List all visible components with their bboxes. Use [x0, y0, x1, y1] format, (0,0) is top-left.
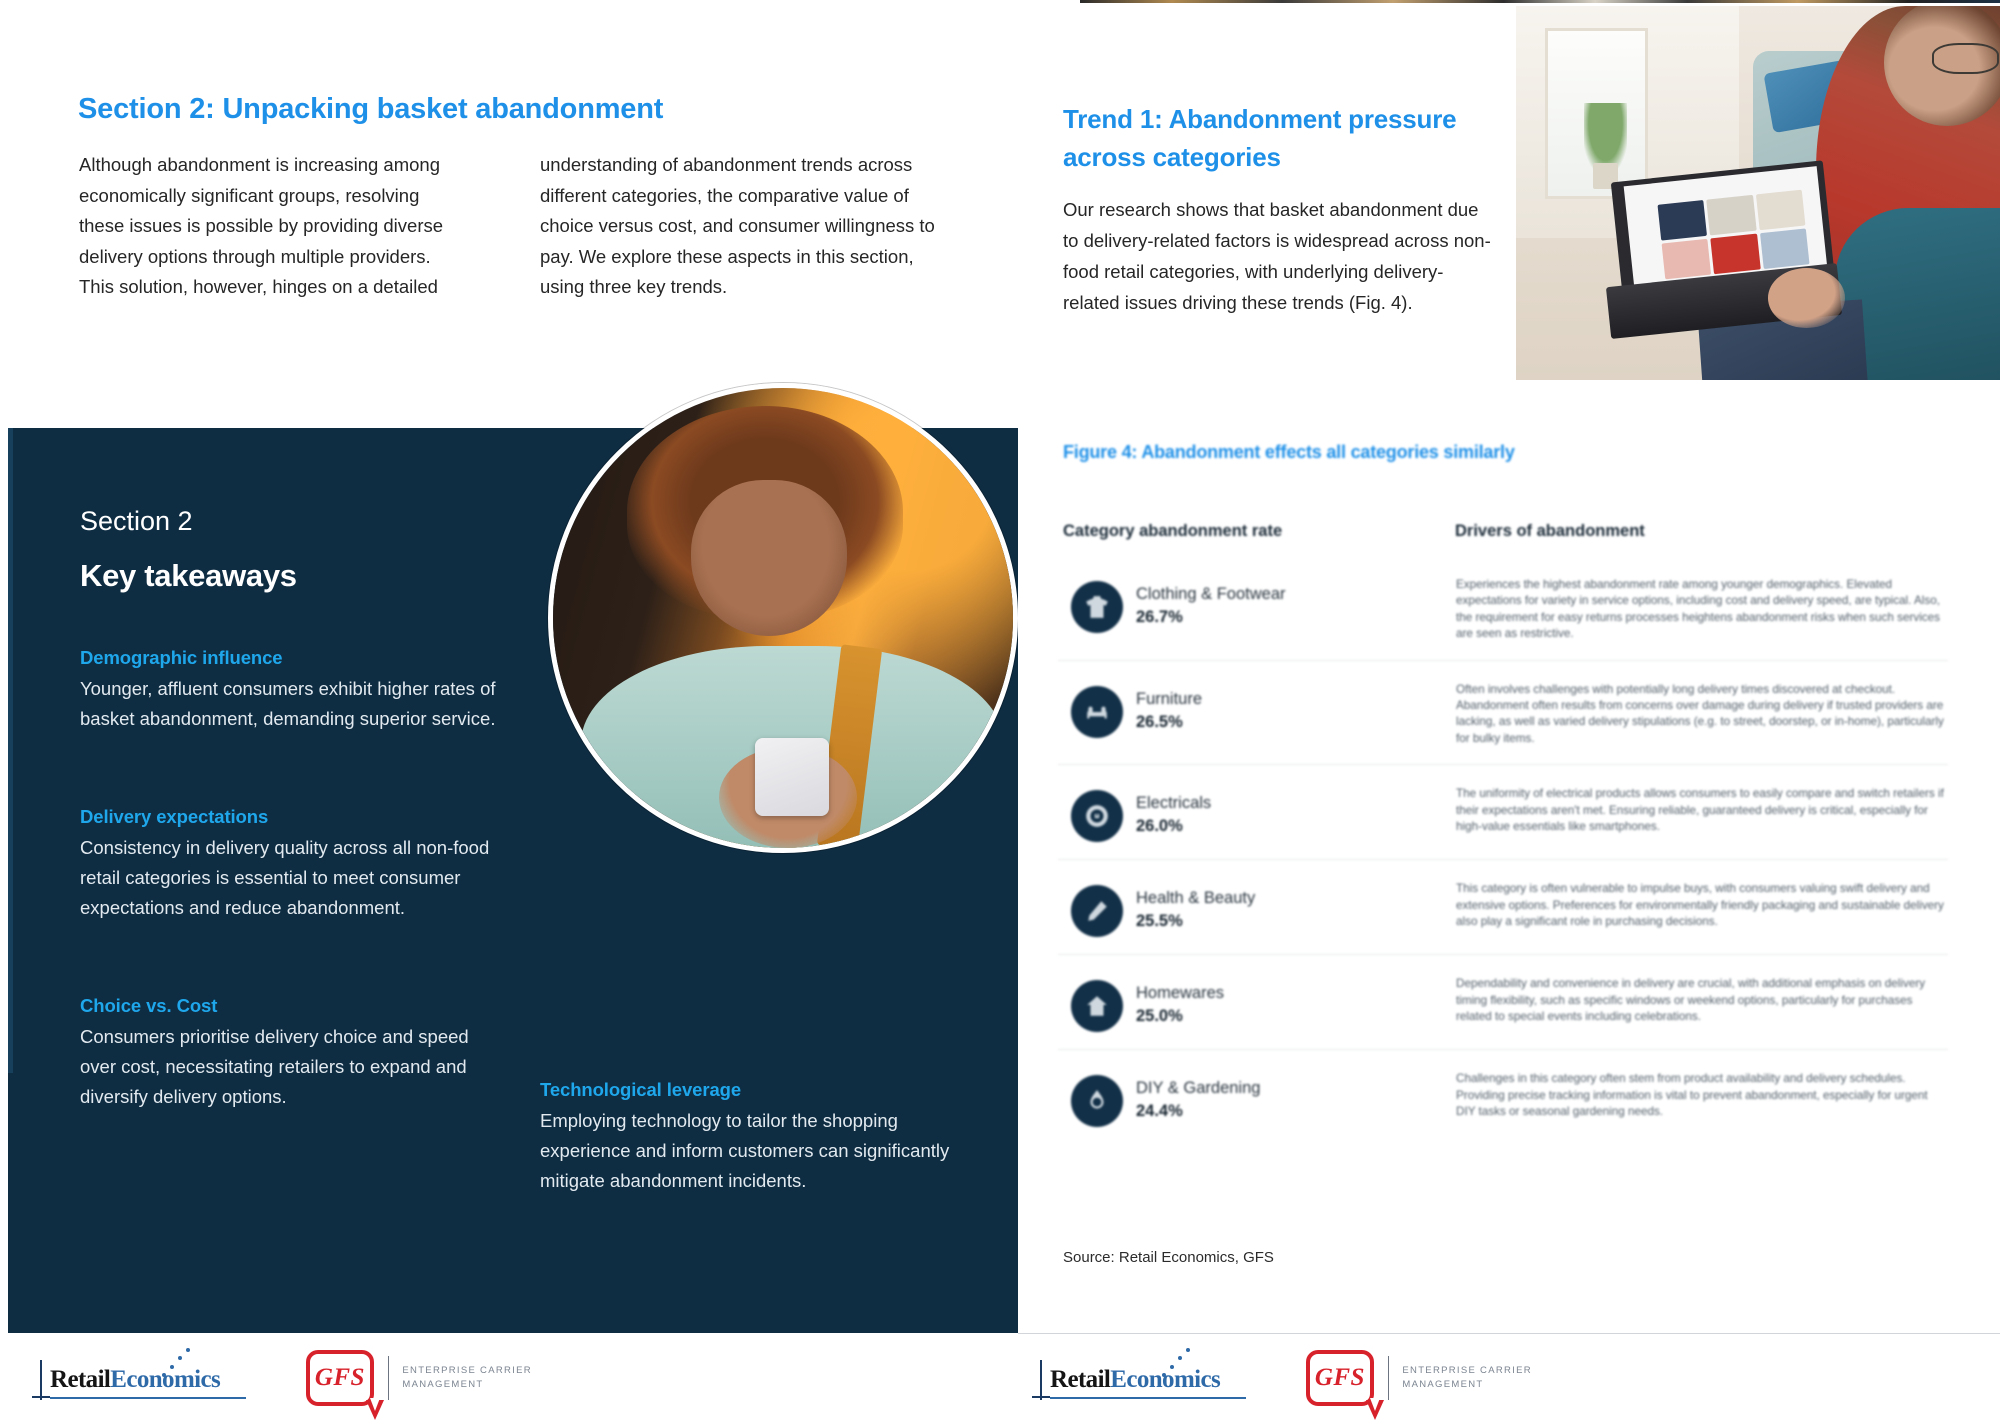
- gfs-mark: GFS: [315, 1364, 365, 1392]
- logo-wordmark: RetailEconomics: [50, 1366, 220, 1394]
- logo-underline: [50, 1397, 246, 1399]
- category-cell: Homewares 25.0%: [1136, 972, 1456, 1028]
- table-row: Furniture 26.5% Often involves challenge…: [1058, 661, 1948, 766]
- takeaway-body: Consistency in delivery quality across a…: [80, 833, 505, 923]
- plug-icon: [1058, 782, 1136, 842]
- takeaway-body: Employing technology to tailor the shopp…: [540, 1106, 970, 1196]
- takeaway-technological-leverage: Technological leverage Employing technol…: [540, 1077, 970, 1196]
- figure-source: Source: Retail Economics, GFS: [1063, 1249, 1274, 1266]
- category-cell: Clothing & Footwear 26.7%: [1136, 573, 1456, 629]
- gfs-divider: [1388, 1356, 1389, 1400]
- logo-tick: [1032, 1396, 1050, 1398]
- photo-online-store-grid: [1658, 189, 1810, 279]
- page-title: Section 2: Unpacking basket abandonment: [78, 91, 838, 127]
- category-rate: 25.5%: [1136, 909, 1456, 933]
- photo-hand: [1768, 268, 1845, 328]
- sofa-icon: [1058, 678, 1136, 738]
- footer-right: RetailEconomics GFS ENTERPRISE CARRIER M…: [1040, 1348, 1536, 1408]
- panel-eyebrow: Section 2: [80, 505, 193, 537]
- category-cell: Electricals 26.0%: [1136, 782, 1456, 838]
- woman-with-laptop-photo: [1516, 6, 2000, 380]
- figure-title: Figure 4: Abandonment effects all catego…: [1063, 440, 1843, 464]
- category-name: Clothing & Footwear: [1136, 583, 1456, 605]
- figure-column-header-category: Category abandonment rate: [1063, 522, 1282, 541]
- gfs-speech-bubble: GFS: [306, 1350, 374, 1406]
- logo-word-retail: Retail: [50, 1366, 110, 1393]
- gfs-bubble-tail: [366, 1400, 384, 1420]
- tshirt-icon: [1058, 573, 1136, 633]
- driver-cell: Challenges in this category often stem f…: [1456, 1067, 1948, 1120]
- trend-paragraph: Our research shows that basket abandonme…: [1063, 194, 1493, 318]
- report-spread: Section 2: Unpacking basket abandonment …: [0, 0, 2000, 1415]
- retail-economics-logo: RetailEconomics: [1040, 1352, 1250, 1404]
- logo-word-retail: Retail: [1050, 1366, 1110, 1393]
- logo-wordmark: RetailEconomics: [1050, 1366, 1220, 1394]
- driver-cell: Dependability and convenience in deliver…: [1456, 972, 1948, 1025]
- category-rate: 25.0%: [1136, 1004, 1456, 1028]
- gfs-tagline: ENTERPRISE CARRIER MANAGEMENT: [1402, 1364, 1536, 1392]
- footer-divider: [1018, 1333, 2000, 1334]
- footer-left: RetailEconomics GFS ENTERPRISE CARRIER M…: [40, 1348, 536, 1408]
- logo-tick: [32, 1396, 50, 1398]
- takeaway-heading: Choice vs. Cost: [80, 993, 505, 1019]
- category-name: DIY & Gardening: [1136, 1077, 1456, 1099]
- retail-economics-logo: RetailEconomics: [40, 1352, 250, 1404]
- category-rate: 26.5%: [1136, 710, 1456, 734]
- gfs-divider: [388, 1356, 389, 1400]
- table-row: Electricals 26.0% The uniformity of elec…: [1058, 765, 1948, 860]
- takeaway-body: Younger, affluent consumers exhibit high…: [80, 674, 505, 734]
- body-column-2: understanding of abandonment trends acro…: [540, 150, 960, 303]
- driver-cell: This category is often vulnerable to imp…: [1456, 877, 1948, 930]
- takeaway-delivery-expectations: Delivery expectations Consistency in del…: [80, 804, 505, 923]
- panel-accent-stripe: [8, 428, 13, 1073]
- driver-cell: Experiences the highest abandonment rate…: [1456, 573, 1948, 643]
- takeaway-body: Consumers prioritise delivery choice and…: [80, 1022, 505, 1112]
- category-name: Electricals: [1136, 792, 1456, 814]
- driver-cell: The uniformity of electrical products al…: [1456, 782, 1948, 835]
- category-cell: Health & Beauty 25.5%: [1136, 877, 1456, 933]
- category-cell: Furniture 26.5%: [1136, 678, 1456, 734]
- takeaway-choice-vs-cost: Choice vs. Cost Consumers prioritise del…: [80, 993, 505, 1112]
- table-row: Homewares 25.0% Dependability and conven…: [1058, 955, 1948, 1050]
- figure-table: Clothing & Footwear 26.7% Experiences th…: [1058, 556, 1948, 1144]
- logo-word-economics: Economics: [1110, 1366, 1220, 1393]
- photo-glasses: [1932, 43, 1999, 73]
- takeaway-heading: Delivery expectations: [80, 804, 505, 830]
- takeaway-demographic-influence: Demographic influence Younger, affluent …: [80, 645, 505, 734]
- gfs-mark: GFS: [1315, 1364, 1365, 1392]
- photo-face: [691, 480, 847, 636]
- table-row: DIY & Gardening 24.4% Challenges in this…: [1058, 1050, 1948, 1144]
- takeaway-heading: Technological leverage: [540, 1077, 970, 1103]
- body-column-1: Although abandonment is increasing among…: [79, 150, 469, 303]
- gfs-bubble-tail: [1366, 1400, 1384, 1420]
- gfs-tagline: ENTERPRISE CARRIER MANAGEMENT: [402, 1364, 536, 1392]
- table-row: Health & Beauty 25.5% This category is o…: [1058, 860, 1948, 955]
- figure-column-header-drivers: Drivers of abandonment: [1455, 522, 1645, 541]
- gfs-logo: GFS ENTERPRISE CARRIER MANAGEMENT: [306, 1350, 536, 1406]
- category-rate: 24.4%: [1136, 1099, 1456, 1123]
- gfs-logo: GFS ENTERPRISE CARRIER MANAGEMENT: [1306, 1350, 1536, 1406]
- watering-can-icon: [1058, 1067, 1136, 1127]
- top-edge-strip: [1080, 0, 2000, 3]
- category-rate: 26.7%: [1136, 605, 1456, 629]
- logo-bar: [40, 1360, 42, 1400]
- category-name: Furniture: [1136, 688, 1456, 710]
- logo-bar: [1040, 1360, 1042, 1400]
- gfs-speech-bubble: GFS: [1306, 1350, 1374, 1406]
- home-icon: [1058, 972, 1136, 1032]
- category-name: Health & Beauty: [1136, 887, 1456, 909]
- photo-plant: [1584, 103, 1628, 170]
- trend-title: Trend 1: Abandonment pressure across cat…: [1063, 100, 1463, 176]
- category-name: Homewares: [1136, 982, 1456, 1004]
- category-cell: DIY & Gardening 24.4%: [1136, 1067, 1456, 1123]
- logo-underline: [1050, 1397, 1246, 1399]
- table-row: Clothing & Footwear 26.7% Experiences th…: [1058, 556, 1948, 661]
- driver-cell: Often involves challenges with potential…: [1456, 678, 1948, 748]
- logo-word-economics: Economics: [110, 1366, 220, 1393]
- page-divider: [1018, 0, 1020, 1333]
- smiling-woman-photo: [548, 383, 1018, 853]
- category-rate: 26.0%: [1136, 814, 1456, 838]
- takeaway-heading: Demographic influence: [80, 645, 505, 671]
- lipstick-icon: [1058, 877, 1136, 937]
- panel-title: Key takeaways: [80, 558, 297, 594]
- photo-smartphone: [755, 738, 829, 816]
